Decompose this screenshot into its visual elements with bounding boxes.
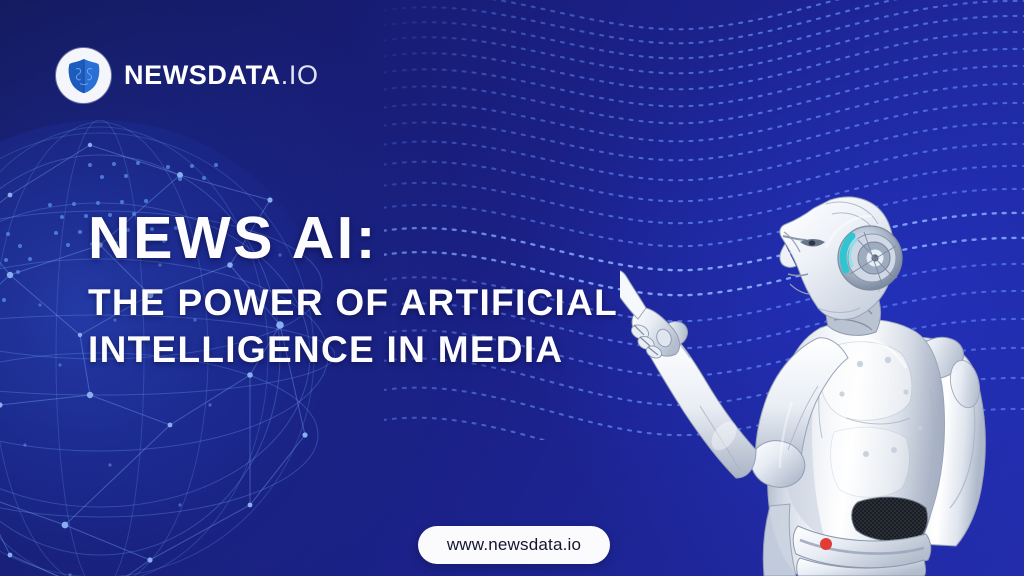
website-url-pill[interactable]: www.newsdata.io bbox=[418, 526, 610, 564]
headline-sub-line-1: THE POWER OF ARTIFICIAL bbox=[88, 280, 618, 327]
brand-wordmark: NEWSDATA.IO bbox=[124, 62, 319, 89]
robot-ear-module bbox=[838, 226, 902, 290]
newsdata-shield-brain-icon bbox=[56, 48, 111, 103]
brand-name-tld: .IO bbox=[281, 60, 319, 90]
brand-name-bold: NEWSDATA bbox=[124, 60, 281, 90]
humanoid-robot-pointing bbox=[620, 188, 1024, 576]
brand-logo[interactable]: NEWSDATA.IO bbox=[56, 48, 319, 103]
headline-subtitle: THE POWER OF ARTIFICIAL INTELLIGENCE IN … bbox=[88, 280, 618, 374]
robot-status-indicator bbox=[820, 538, 832, 550]
headline-block: NEWS AI: THE POWER OF ARTIFICIAL INTELLI… bbox=[88, 208, 618, 374]
headline-sub-line-2: INTELLIGENCE IN MEDIA bbox=[88, 327, 618, 374]
headline-main: NEWS AI: bbox=[88, 208, 618, 268]
website-url-text: www.newsdata.io bbox=[447, 535, 581, 555]
banner-graphic: NEWSDATA.IO NEWS AI: THE POWER OF ARTIFI… bbox=[0, 0, 1024, 576]
